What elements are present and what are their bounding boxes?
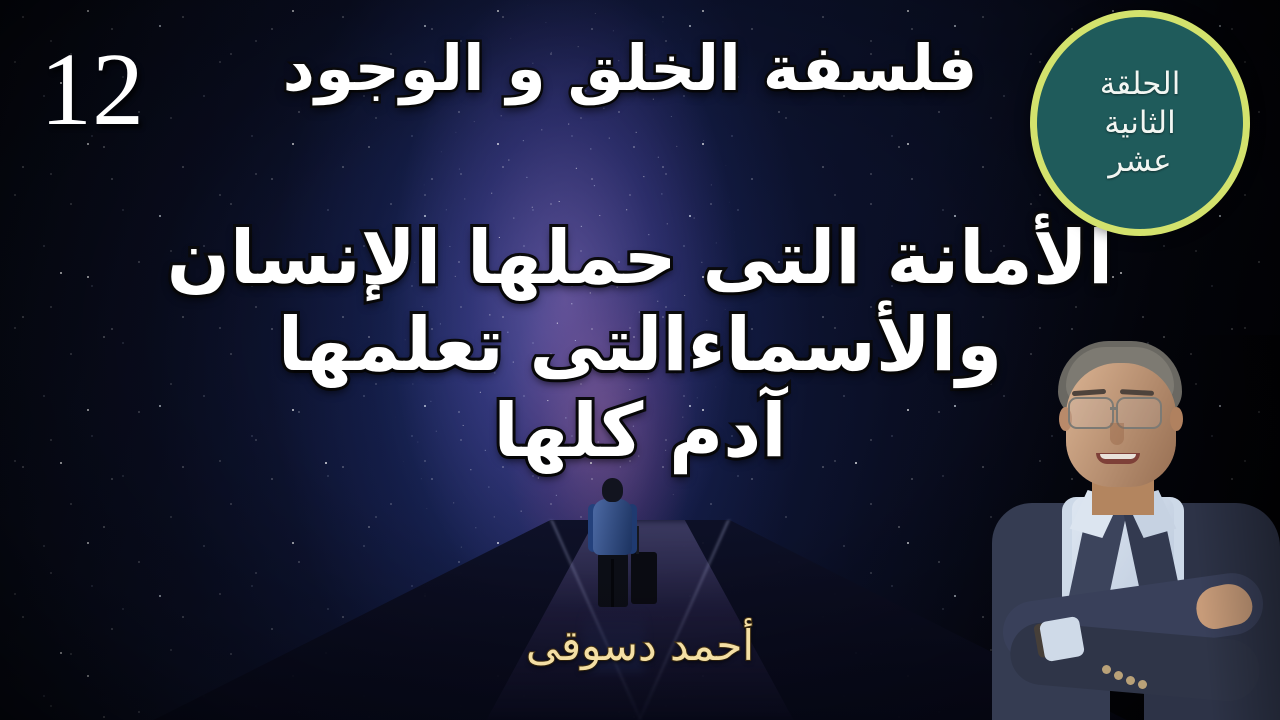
- badge-line-3: عشر: [1108, 143, 1171, 180]
- sleeve-button-2: [1114, 671, 1123, 680]
- badge-line-1: الحلقة: [1100, 66, 1181, 103]
- eyeglasses-lens-left: [1068, 397, 1114, 429]
- ear-right: [1170, 407, 1183, 431]
- episode-badge: الحلقة الثانية عشر: [1030, 10, 1250, 236]
- nose: [1110, 423, 1124, 445]
- thumbnail-canvas: 12 فلسفة الخلق و الوجود الأمانة التى حمل…: [0, 0, 1280, 720]
- badge-line-2: الثانية: [1104, 105, 1175, 142]
- shirt-cuff: [1039, 616, 1085, 662]
- eyeglasses-bridge: [1110, 407, 1118, 410]
- presenter-portrait: [984, 335, 1280, 720]
- smiling-mouth: [1096, 453, 1140, 464]
- sleeve-button-4: [1138, 680, 1147, 689]
- headline-line-1: الأمانة التى حملها الإنسان: [40, 215, 1240, 302]
- sleeve-button-3: [1126, 676, 1135, 685]
- sleeve-button-1: [1102, 665, 1111, 674]
